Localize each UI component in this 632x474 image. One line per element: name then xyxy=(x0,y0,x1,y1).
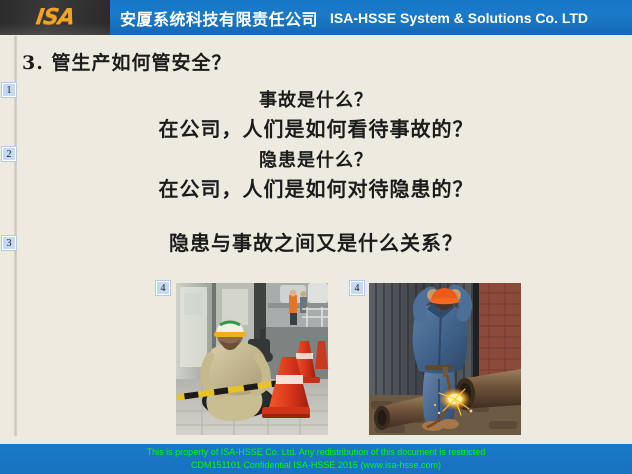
photo-worker-cutting-pipe xyxy=(369,283,521,435)
company-name-en: ISA-HSSE System & Solutions Co. LTD xyxy=(330,10,588,26)
photo-worker-cutting-pipe-art xyxy=(369,283,521,435)
header-title-band: 安厦系统科技有限责任公司 ISA-HSSE System & Solutions… xyxy=(110,0,632,35)
question-block-3: 隐患与事故之间又是什么关系？ xyxy=(0,228,632,258)
isa-logo-text: ISA xyxy=(34,5,76,30)
question-3-line-1: 隐患与事故之间又是什么关系？ xyxy=(0,228,632,258)
slide-header: ISA 安厦系统科技有限责任公司 ISA-HSSE System & Solut… xyxy=(0,0,632,35)
question-1-line-2: 在公司，人们是如何看待事故的？ xyxy=(0,114,632,144)
page-title: 3. 管生产如何管安全？ xyxy=(22,48,231,75)
question-1-line-1: 事故是什么？ xyxy=(0,88,632,114)
photo-worker-manhole-art xyxy=(176,283,328,435)
animation-marker-photo-2[interactable]: 4 xyxy=(350,281,364,295)
footer-copyright-line: This is property of ISA-HSSE Co. Ltd. An… xyxy=(147,446,486,459)
animation-marker-photo-1[interactable]: 4 xyxy=(156,281,170,295)
company-name-cn: 安厦系统科技有限责任公司 xyxy=(120,6,318,30)
footer-document-line: CDM151101 Confidential ISA-HSSE 2015 (ww… xyxy=(191,459,441,472)
isa-logo: ISA xyxy=(0,0,110,35)
question-2-line-1: 隐患是什么？ xyxy=(0,148,632,174)
question-block-2: 隐患是什么？ 在公司，人们是如何对待隐患的？ xyxy=(0,148,632,204)
question-block-1: 事故是什么？ 在公司，人们是如何看待事故的？ xyxy=(0,88,632,144)
presentation-slide: ISA 安厦系统科技有限责任公司 ISA-HSSE System & Solut… xyxy=(0,0,632,474)
question-2-line-2: 在公司，人们是如何对待隐患的？ xyxy=(0,174,632,204)
photo-worker-manhole xyxy=(176,283,328,435)
slide-footer: This is property of ISA-HSSE Co. Ltd. An… xyxy=(0,444,632,474)
